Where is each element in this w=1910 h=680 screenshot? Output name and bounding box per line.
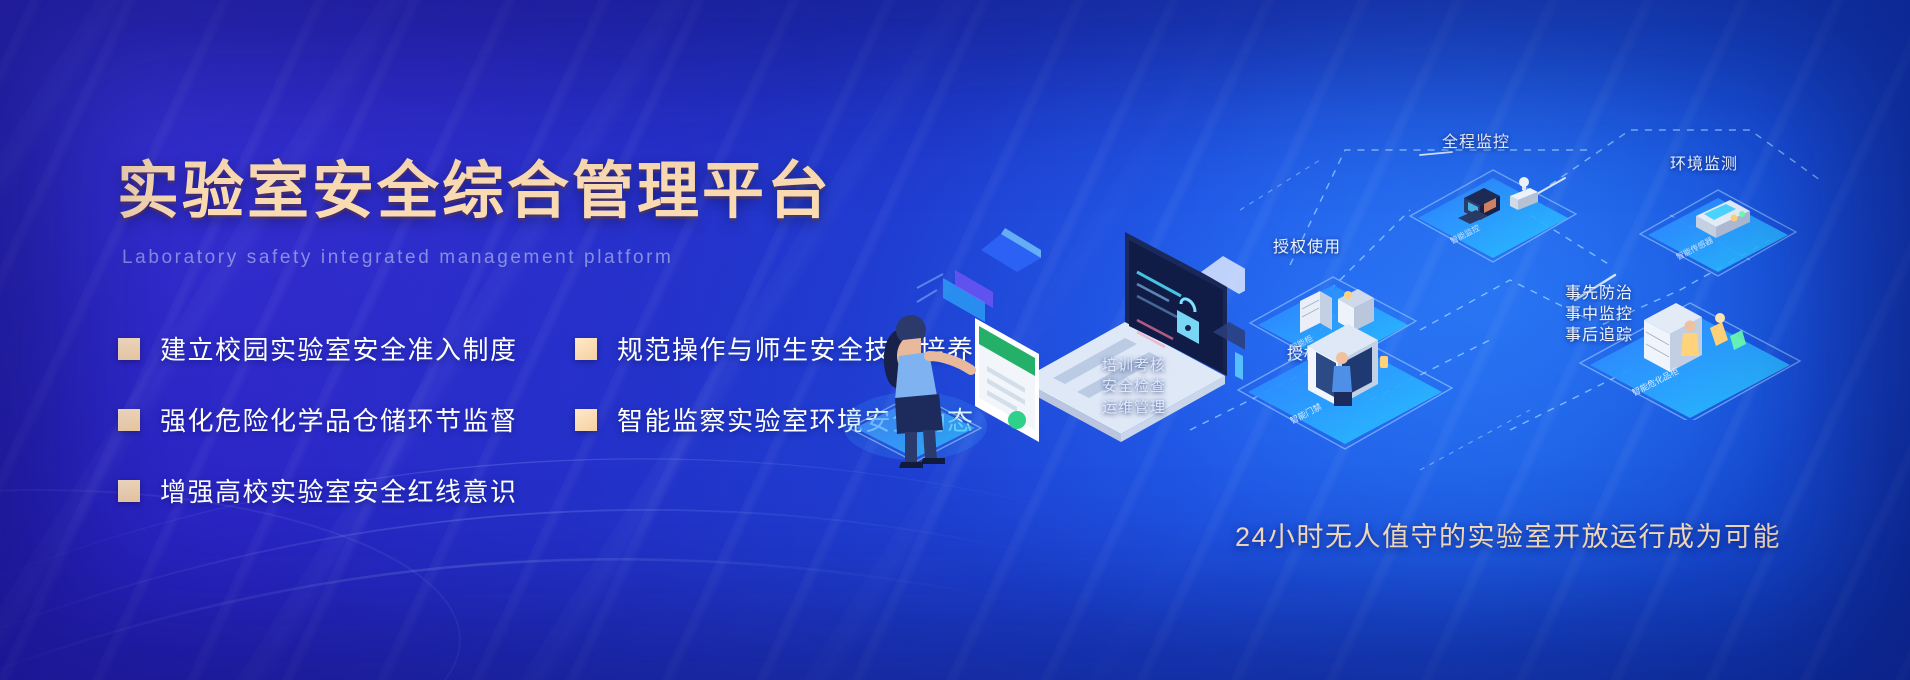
bullet-square-icon <box>118 480 140 502</box>
center-caption-line: 培训考核 <box>1102 355 1166 376</box>
page-subtitle: Laboratory safety integrated management … <box>122 247 673 269</box>
list-item: 增强高校实验室安全红线意识 <box>118 472 518 509</box>
bullet-square-icon <box>118 338 140 360</box>
node-card-environment-monitoring: 智能传感器 <box>1638 180 1798 280</box>
node-card-full-monitoring: 智能监控 <box>1408 158 1578 268</box>
promo-banner: 实验室安全综合管理平台 Laboratory safety integrated… <box>0 0 1910 680</box>
bullet-label: 增强高校实验室安全红线意识 <box>160 472 518 509</box>
node-label-authorized-use: 授权使用 <box>1273 238 1341 258</box>
isometric-diagram: 培训考核 安全检查 运维管理 授权使用 <box>990 0 1910 680</box>
bullet-square-icon <box>118 409 140 431</box>
bullet-label: 强化危险化学品仓储环节监督 <box>160 401 518 438</box>
bullet-square-icon <box>575 338 597 360</box>
node-label-full-monitoring: 全程监控 <box>1442 133 1510 153</box>
node-card-chemical-cabinet: 智能危化品柜 <box>1570 270 1810 420</box>
center-caption-line: 安全检查 <box>1102 376 1166 397</box>
page-title: 实验室安全综合管理平台 <box>117 140 832 230</box>
center-caption-line: 运维管理 <box>1102 397 1166 418</box>
bottom-tagline: 24小时无人值守的实验室开放运行成为可能 <box>1235 515 1781 554</box>
node-label-environment-monitoring: 环境监测 <box>1670 155 1738 175</box>
bullet-square-icon <box>575 409 597 431</box>
bullet-label: 建立校园实验室安全准入制度 <box>160 330 518 367</box>
central-illustration <box>825 180 1245 480</box>
list-item: 建立校园实验室安全准入制度 <box>118 330 518 367</box>
node-card-authorized-access: 智能门禁 <box>1230 300 1460 450</box>
list-item: 强化危险化学品仓储环节监督 <box>118 401 518 438</box>
center-caption: 培训考核 安全检查 运维管理 <box>1102 355 1166 418</box>
